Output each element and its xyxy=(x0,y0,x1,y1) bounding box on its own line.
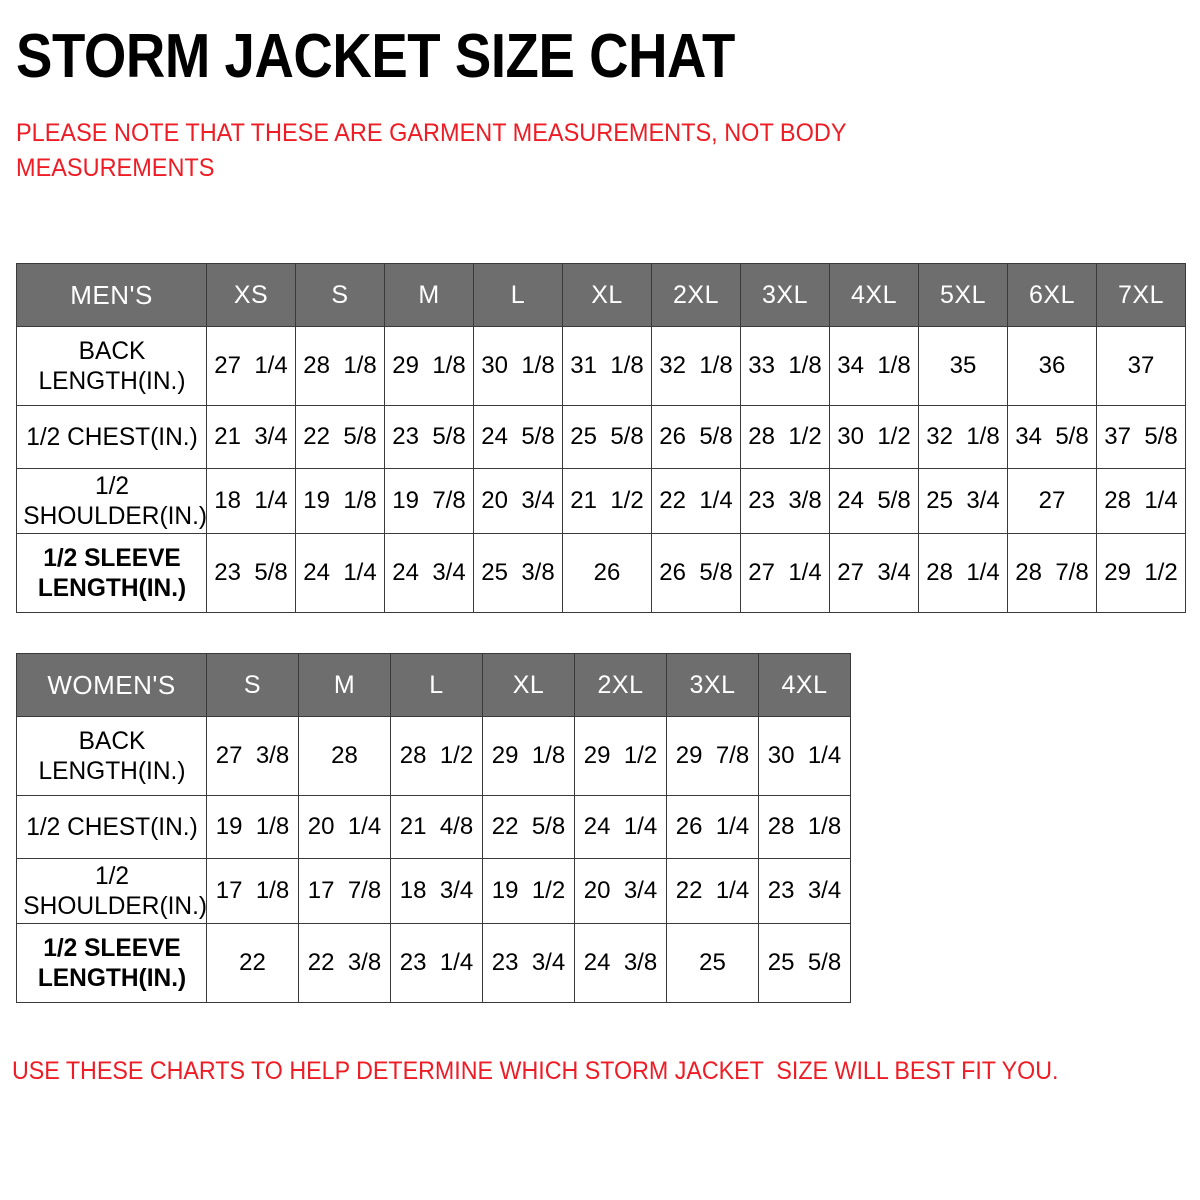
measurement-cell: 23 5/8 xyxy=(207,534,296,613)
measurement-cell: 27 1/4 xyxy=(741,534,830,613)
measurement-cell: 21 4/8 xyxy=(391,796,483,859)
column-header-5xl: 5XL xyxy=(919,264,1008,327)
womens-size-table: WOMEN'SSMLXL2XL3XL4XL BACK LENGTH(IN.)27… xyxy=(16,653,851,1003)
measurement-cell: 28 1/8 xyxy=(759,796,851,859)
measurement-cell: 34 5/8 xyxy=(1008,406,1097,469)
column-header-m: M xyxy=(385,264,474,327)
column-header-xl: XL xyxy=(483,654,575,717)
measurement-cell: 20 1/4 xyxy=(299,796,391,859)
column-header-xl: XL xyxy=(563,264,652,327)
measurement-cell: 23 5/8 xyxy=(385,406,474,469)
measurement-cell: 29 7/8 xyxy=(667,717,759,796)
measurement-cell: 24 3/4 xyxy=(385,534,474,613)
measurement-cell: 30 1/2 xyxy=(830,406,919,469)
measurement-cell: 26 xyxy=(563,534,652,613)
mens-header-row: MEN'SXSSMLXL2XL3XL4XL5XL6XL7XL xyxy=(17,264,1186,327)
measurement-cell: 37 xyxy=(1097,327,1186,406)
womens-table-head: WOMEN'SSMLXL2XL3XL4XL xyxy=(17,654,851,717)
measurement-cell: 27 1/4 xyxy=(207,327,296,406)
column-header-3xl: 3XL xyxy=(741,264,830,327)
measurement-cell: 28 1/8 xyxy=(296,327,385,406)
measurement-cell: 28 1/2 xyxy=(391,717,483,796)
column-header-4xl: 4XL xyxy=(759,654,851,717)
womens-corner-header: WOMEN'S xyxy=(17,654,207,717)
measurement-cell: 19 1/2 xyxy=(483,859,575,924)
measurement-cell: 17 7/8 xyxy=(299,859,391,924)
measurement-cell: 29 1/8 xyxy=(483,717,575,796)
column-header-l: L xyxy=(474,264,563,327)
measurement-cell: 28 1/4 xyxy=(1097,469,1186,534)
measurement-cell: 23 3/4 xyxy=(759,859,851,924)
use-charts-note: USE THESE CHARTS TO HELP DETERMINE WHICH… xyxy=(12,1055,1109,1087)
row-label: 1/2 CHEST(IN.) xyxy=(18,406,204,469)
womens-header-row: WOMEN'SSMLXL2XL3XL4XL xyxy=(17,654,851,717)
column-header-2xl: 2XL xyxy=(652,264,741,327)
table-row: 1/2 SLEEVE LENGTH(IN.)2222 3/823 1/423 3… xyxy=(17,924,851,1003)
column-header-4xl: 4XL xyxy=(830,264,919,327)
row-label: 1/2 SHOULDER(IN.) xyxy=(18,859,204,924)
measurement-cell: 24 1/4 xyxy=(575,796,667,859)
column-header-s: S xyxy=(296,264,385,327)
measurement-cell: 19 1/8 xyxy=(207,796,299,859)
row-label: 1/2 SLEEVE LENGTH(IN.) xyxy=(18,534,204,613)
measurement-cell: 20 3/4 xyxy=(474,469,563,534)
row-label: BACK LENGTH(IN.) xyxy=(18,327,204,406)
measurement-cell: 24 5/8 xyxy=(474,406,563,469)
column-header-l: L xyxy=(391,654,483,717)
measurement-cell: 22 5/8 xyxy=(296,406,385,469)
measurement-cell: 26 1/4 xyxy=(667,796,759,859)
measurement-cell: 25 3/8 xyxy=(474,534,563,613)
measurement-cell: 32 1/8 xyxy=(652,327,741,406)
column-header-6xl: 6XL xyxy=(1008,264,1097,327)
measurement-cell: 28 1/4 xyxy=(919,534,1008,613)
measurement-cell: 18 1/4 xyxy=(207,469,296,534)
measurement-cell: 21 3/4 xyxy=(207,406,296,469)
column-header-2xl: 2XL xyxy=(575,654,667,717)
column-header-7xl: 7XL xyxy=(1097,264,1186,327)
measurement-cell: 23 3/4 xyxy=(483,924,575,1003)
measurement-cell: 35 xyxy=(919,327,1008,406)
measurement-cell: 24 3/8 xyxy=(575,924,667,1003)
column-header-3xl: 3XL xyxy=(667,654,759,717)
measurement-cell: 27 3/4 xyxy=(830,534,919,613)
measurement-cell: 22 5/8 xyxy=(483,796,575,859)
table-row: 1/2 SLEEVE LENGTH(IN.)23 5/824 1/424 3/4… xyxy=(17,534,1186,613)
table-row: 1/2 SHOULDER(IN.)18 1/419 1/819 7/820 3/… xyxy=(17,469,1186,534)
measurement-cell: 21 1/2 xyxy=(563,469,652,534)
measurement-cell: 27 xyxy=(1008,469,1097,534)
measurement-cell: 37 5/8 xyxy=(1097,406,1186,469)
measurement-cell: 22 3/8 xyxy=(299,924,391,1003)
measurement-cell: 25 xyxy=(667,924,759,1003)
measurement-cell: 31 1/8 xyxy=(563,327,652,406)
measurement-cell: 30 1/8 xyxy=(474,327,563,406)
mens-table-head: MEN'SXSSMLXL2XL3XL4XL5XL6XL7XL xyxy=(17,264,1186,327)
measurement-cell: 24 5/8 xyxy=(830,469,919,534)
table-row: 1/2 SHOULDER(IN.)17 1/817 7/818 3/419 1/… xyxy=(17,859,851,924)
measurement-cell: 23 1/4 xyxy=(391,924,483,1003)
column-header-m: M xyxy=(299,654,391,717)
mens-table-body: BACK LENGTH(IN.)27 1/428 1/829 1/830 1/8… xyxy=(17,327,1186,613)
page-title: STORM JACKET SIZE CHAT xyxy=(16,24,735,90)
measurement-cell: 29 1/2 xyxy=(575,717,667,796)
measurement-cell: 17 1/8 xyxy=(207,859,299,924)
row-label: 1/2 SLEEVE LENGTH(IN.) xyxy=(18,924,204,1003)
measurement-cell: 33 1/8 xyxy=(741,327,830,406)
measurement-cell: 26 5/8 xyxy=(652,534,741,613)
measurement-cell: 32 1/8 xyxy=(919,406,1008,469)
measurement-cell: 25 5/8 xyxy=(563,406,652,469)
measurement-cell: 25 5/8 xyxy=(759,924,851,1003)
measurement-cell: 28 xyxy=(299,717,391,796)
measurement-cell: 20 3/4 xyxy=(575,859,667,924)
measurement-cell: 34 1/8 xyxy=(830,327,919,406)
measurement-cell: 28 7/8 xyxy=(1008,534,1097,613)
column-header-s: S xyxy=(207,654,299,717)
measurement-cell: 30 1/4 xyxy=(759,717,851,796)
measurement-cell: 22 xyxy=(207,924,299,1003)
table-row: 1/2 CHEST(IN.)21 3/422 5/823 5/824 5/825… xyxy=(17,406,1186,469)
measurement-cell: 23 3/8 xyxy=(741,469,830,534)
measurement-cell: 29 1/8 xyxy=(385,327,474,406)
row-label: 1/2 CHEST(IN.) xyxy=(18,796,204,859)
measurement-cell: 26 5/8 xyxy=(652,406,741,469)
measurement-cell: 25 3/4 xyxy=(919,469,1008,534)
table-row: BACK LENGTH(IN.)27 1/428 1/829 1/830 1/8… xyxy=(17,327,1186,406)
measurement-cell: 28 1/2 xyxy=(741,406,830,469)
size-chart-page: STORM JACKET SIZE CHAT PLEASE NOTE THAT … xyxy=(0,0,1200,1200)
row-label: 1/2 SHOULDER(IN.) xyxy=(18,469,204,534)
measurement-cell: 19 1/8 xyxy=(296,469,385,534)
measurement-cell: 22 1/4 xyxy=(652,469,741,534)
table-row: BACK LENGTH(IN.)27 3/82828 1/229 1/829 1… xyxy=(17,717,851,796)
measurement-cell: 19 7/8 xyxy=(385,469,474,534)
measurement-cell: 29 1/2 xyxy=(1097,534,1186,613)
garment-measurement-note: PLEASE NOTE THAT THESE ARE GARMENT MEASU… xyxy=(16,116,937,186)
measurement-cell: 24 1/4 xyxy=(296,534,385,613)
table-row: 1/2 CHEST(IN.)19 1/820 1/421 4/822 5/824… xyxy=(17,796,851,859)
row-label: BACK LENGTH(IN.) xyxy=(18,717,204,796)
measurement-cell: 36 xyxy=(1008,327,1097,406)
measurement-cell: 27 3/8 xyxy=(207,717,299,796)
womens-table-body: BACK LENGTH(IN.)27 3/82828 1/229 1/829 1… xyxy=(17,717,851,1003)
mens-size-table: MEN'SXSSMLXL2XL3XL4XL5XL6XL7XL BACK LENG… xyxy=(16,263,1186,613)
mens-corner-header: MEN'S xyxy=(17,264,207,327)
column-header-xs: XS xyxy=(207,264,296,327)
measurement-cell: 18 3/4 xyxy=(391,859,483,924)
measurement-cell: 22 1/4 xyxy=(667,859,759,924)
